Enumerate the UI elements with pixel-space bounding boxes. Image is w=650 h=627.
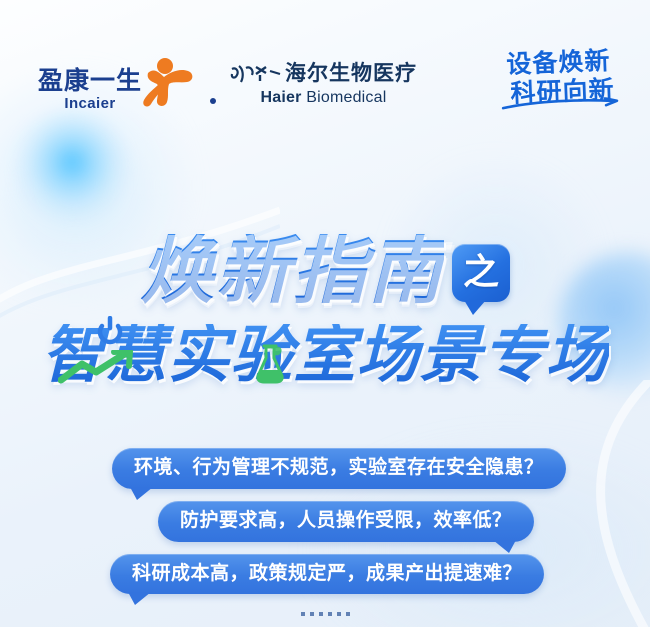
main-title-block: 焕新指南 之 智慧实验室场景专场 [0,228,650,392]
incaier-cn-name: 盈康一生 [38,68,142,93]
title-badge-bubble: 之 [452,244,510,302]
corner-slogan: 设备焕新 科研向新 [485,45,633,109]
ellipsis-dot [301,612,305,616]
pain-point-pill-3[interactable]: 科研成本高，政策规定严，成果产出提速难？ [110,554,544,595]
title-line-1: 焕新指南 [140,234,444,308]
pain-point-text-1: 环境、行为管理不规范，实验室存在安全隐患？ [134,456,544,478]
logo-incaier[interactable]: 盈康一生 Incaier [38,57,196,111]
haier-en-bold: Haier [261,89,302,106]
orange-person-mark-icon [140,57,196,111]
pain-point-pill-2[interactable]: 防护要求高，人员操作受限，效率低？ [158,501,534,542]
incaier-en-name: Incaier [64,96,115,111]
haier-en-light: Biomedical [302,89,387,106]
haier-cn-name: 海尔生物医疗 [285,63,417,84]
ellipsis-dot [346,612,350,616]
ellipsis-dot [328,612,332,616]
logo-haier-biomedical[interactable]: 海尔生物医疗 Haier Biomedical [230,63,417,106]
ellipsis-dot [310,612,314,616]
logo-bar: 盈康一生 Incaier 海尔生物医疗 [38,56,417,112]
haier-script-icon [230,63,282,85]
pain-point-pill-1[interactable]: 环境、行为管理不规范，实验室存在安全隐患？ [112,448,566,489]
pain-point-text-2: 防护要求高，人员操作受限，效率低？ [180,509,512,531]
logo-separator-dot [210,98,216,104]
promo-banner: 盈康一生 Incaier 海尔生物医疗 [0,0,650,627]
pain-point-list: 环境、行为管理不规范，实验室存在安全隐患？ 防护要求高，人员操作受限，效率低？ … [0,448,650,616]
ellipsis-dot [319,612,323,616]
title-badge-text: 之 [463,255,499,291]
pain-point-text-3: 科研成本高，政策规定严，成果产出提速难？ [132,562,522,584]
background-glow-cyan-orb [14,110,130,226]
ellipsis-dot [337,612,341,616]
title-line-2: 智慧实验室场景专场 [41,324,608,386]
ellipsis-dots [0,612,650,616]
